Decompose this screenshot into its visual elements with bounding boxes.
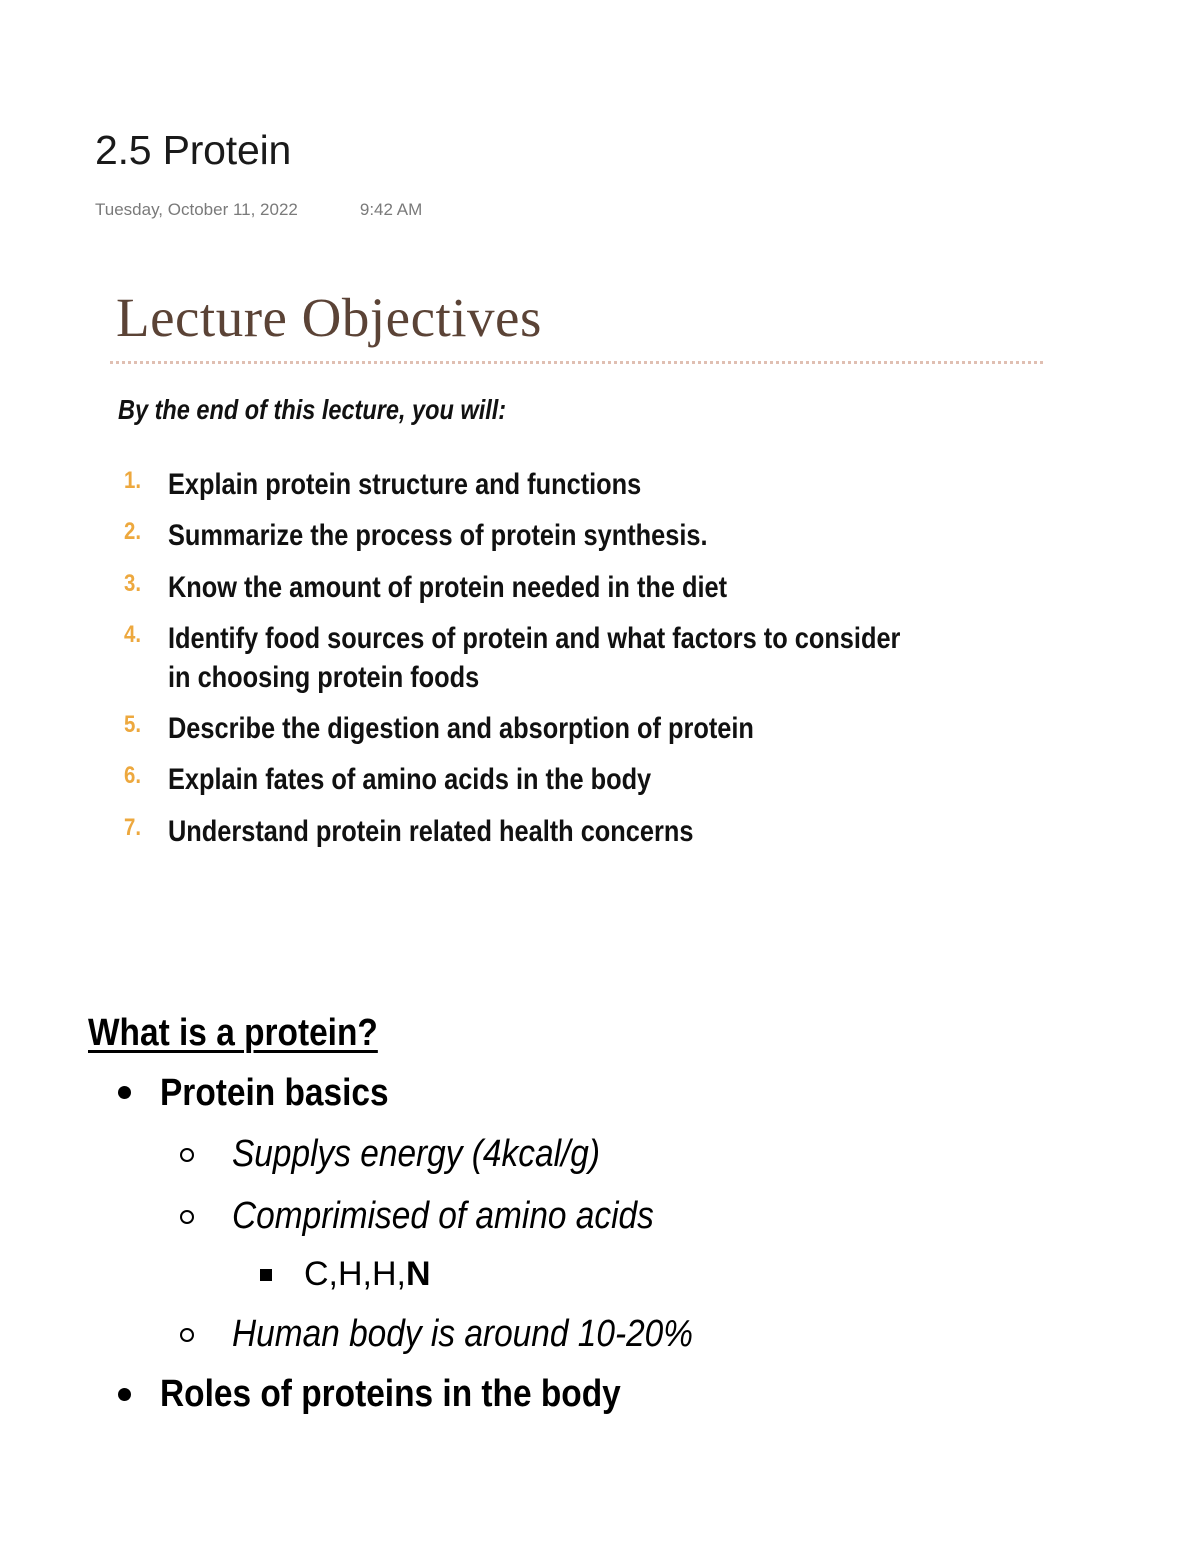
circle-bullet-icon	[180, 1133, 232, 1177]
objective-item: 7. Understand protein related health con…	[110, 813, 1050, 851]
outline-item-label[interactable]: Comprimised of amino acids	[232, 1195, 654, 1239]
slide-title: Lecture Objectives	[116, 290, 1050, 345]
objective-item: 5. Describe the digestion and absorption…	[110, 710, 1050, 748]
outline-item-label[interactable]: Human body is around 10-20%	[232, 1313, 693, 1357]
outline-item-roles-of-proteins[interactable]: Roles of proteins in the body	[118, 1373, 1138, 1417]
lecture-objectives-list: 1. Explain protein structure and functio…	[110, 466, 1050, 851]
outline-item-label[interactable]: C,H,H,N	[304, 1255, 431, 1294]
objective-text: Identify food sources of protein and wha…	[168, 620, 913, 697]
page-timestamp: Tuesday, October 11, 20229:42 AM	[95, 200, 422, 220]
objective-text: Describe the digestion and absorption of…	[168, 710, 913, 748]
outline-item-comprimised-of-amino-acids[interactable]: Comprimised of amino acids	[180, 1195, 1138, 1239]
objective-number: 6.	[124, 761, 161, 792]
slide-divider	[110, 361, 1043, 364]
outline-item-label[interactable]: Roles of proteins in the body	[160, 1373, 621, 1417]
circle-bullet-icon	[180, 1313, 232, 1357]
objective-number: 1.	[124, 466, 161, 497]
page-time: 9:42 AM	[360, 200, 422, 220]
objective-number: 5.	[124, 710, 161, 741]
circle-bullet-icon	[180, 1195, 232, 1239]
objective-item: 2. Summarize the process of protein synt…	[110, 517, 1050, 555]
elements-nitrogen: N	[406, 1255, 431, 1293]
outline-item-protein-basics[interactable]: Protein basics	[118, 1072, 1138, 1116]
objective-text: Know the amount of protein needed in the…	[168, 569, 913, 607]
notes-outline[interactable]: What is a protein? Protein basics Supply…	[88, 1012, 1138, 1417]
objective-number: 4.	[124, 620, 161, 651]
outline-item-elements[interactable]: C,H,H,N	[260, 1255, 1138, 1295]
outline-item-label[interactable]: Protein basics	[160, 1072, 389, 1116]
objective-text: Summarize the process of protein synthes…	[168, 517, 913, 555]
disc-bullet-icon	[118, 1072, 160, 1114]
outline-item-human-body-percentage[interactable]: Human body is around 10-20%	[180, 1313, 1138, 1357]
square-bullet-icon	[260, 1255, 304, 1295]
page-date: Tuesday, October 11, 2022	[95, 200, 298, 220]
elements-prefix: C,H,H,	[304, 1255, 406, 1293]
objective-number: 7.	[124, 813, 161, 844]
slide-subtitle: By the end of this lecture, you will:	[118, 394, 901, 426]
outline-item-supplies-energy[interactable]: Supplys energy (4kcal/g)	[180, 1133, 1138, 1177]
disc-bullet-icon	[118, 1373, 160, 1415]
outline-heading-what-is-a-protein[interactable]: What is a protein?	[88, 1012, 1012, 1056]
objective-item: 3. Know the amount of protein needed in …	[110, 569, 1050, 607]
objective-item: 6. Explain fates of amino acids in the b…	[110, 761, 1050, 799]
objective-text: Understand protein related health concer…	[168, 813, 913, 851]
objective-item: 1. Explain protein structure and functio…	[110, 466, 1050, 504]
objective-item: 4. Identify food sources of protein and …	[110, 620, 1050, 697]
objective-number: 2.	[124, 517, 161, 548]
objective-text: Explain protein structure and functions	[168, 466, 913, 504]
pasted-slide-image: Lecture Objectives By the end of this le…	[110, 290, 1050, 864]
objective-number: 3.	[124, 569, 161, 600]
objective-text: Explain fates of amino acids in the body	[168, 761, 913, 799]
outline-item-label[interactable]: Supplys energy (4kcal/g)	[232, 1133, 600, 1177]
onenote-page: 2.5 Protein Tuesday, October 11, 20229:4…	[0, 0, 1200, 1553]
page-title: 2.5 Protein	[95, 128, 291, 173]
